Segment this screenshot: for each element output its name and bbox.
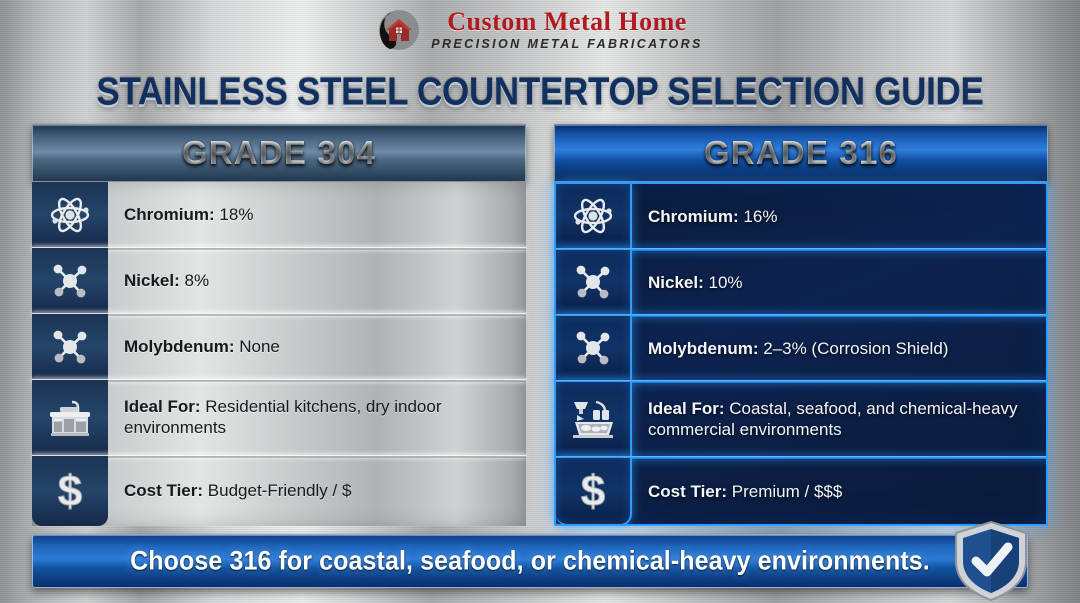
row-text: Nickel: 8% [108, 271, 219, 292]
shield-check-icon [952, 519, 1030, 603]
row-label: Cost Tier: [124, 481, 203, 500]
row-label: Chromium: [124, 205, 215, 224]
grade-304-body: Chromium: 18% Nicke [32, 182, 526, 526]
table-row: Molybdenum: None [32, 314, 526, 380]
recommendation-text: Choose 316 for coastal, seafood, or chem… [130, 545, 930, 576]
grade-316-body: Chromium: 16% Nicke [554, 182, 1048, 526]
table-row: Ideal For: Residential kitchens, dry ind… [32, 380, 526, 456]
table-row: Chromium: 18% [32, 182, 526, 248]
table-row: Nickel: 10% [556, 250, 1046, 316]
brand-logo: Custom Metal Home PRECISION METAL FABRIC… [0, 8, 1080, 52]
row-label: Molybdenum: [648, 339, 759, 358]
table-row: Ideal For: Coastal, seafood, and chemica… [556, 382, 1046, 458]
row-value: 18% [219, 205, 253, 224]
row-text: Cost Tier: Premium / $$$ [632, 482, 852, 503]
row-label: Molybdenum: [124, 337, 235, 356]
row-label: Nickel: [648, 273, 704, 292]
molecule-icon [556, 250, 632, 316]
row-text: Molybdenum: None [108, 337, 290, 358]
dollar-icon: $ [32, 456, 108, 526]
molecule-icon [32, 248, 108, 314]
svg-text:$: $ [581, 467, 605, 515]
page-title: STAINLESS STEEL COUNTERTOP SELECTION GUI… [0, 70, 1080, 115]
row-label: Chromium: [648, 207, 739, 226]
row-label: Nickel: [124, 271, 180, 290]
seafood-prep-icon [556, 382, 632, 458]
row-value: 2–3% (Corrosion Shield) [763, 339, 948, 358]
table-row: $ Cost Tier: Budget-Friendly / $ [32, 456, 526, 526]
grade-304-header: GRADE 304 [32, 124, 526, 182]
row-label: Ideal For: [648, 399, 725, 418]
dollar-icon: $ [556, 458, 632, 526]
kitchen-sink-icon [32, 380, 108, 456]
grade-304-title: GRADE 304 [182, 134, 376, 172]
table-row: Molybdenum: 2–3% (Corrosion Shield) [556, 316, 1046, 382]
row-value: 8% [184, 271, 209, 290]
row-label: Cost Tier: [648, 482, 727, 501]
row-value: 16% [743, 207, 777, 226]
table-row: Chromium: 16% [556, 184, 1046, 250]
table-row: $ Cost Tier: Premium / $$$ [556, 458, 1046, 526]
row-text: Chromium: 18% [108, 205, 263, 226]
row-text: Chromium: 16% [632, 207, 787, 228]
grade-316-header: GRADE 316 [554, 124, 1048, 182]
row-value: Premium / $$$ [732, 482, 843, 501]
svg-text:$: $ [58, 467, 82, 515]
grade-316-panel: GRADE 316 Chromium: 16% [554, 124, 1048, 524]
row-value: Budget-Friendly / $ [208, 481, 352, 500]
grade-304-panel: GRADE 304 Chromium: 18% [32, 124, 526, 524]
molecule-icon [556, 316, 632, 382]
row-value: None [239, 337, 280, 356]
atom-icon [32, 182, 108, 248]
row-text: Nickel: 10% [632, 273, 753, 294]
molecule-icon [32, 314, 108, 380]
brand-tagline: PRECISION METAL FABRICATORS [431, 38, 703, 51]
grade-316-title: GRADE 316 [704, 134, 898, 172]
house-circle-logo-icon [377, 8, 421, 52]
row-text: Ideal For: Coastal, seafood, and chemica… [632, 399, 1046, 440]
row-value: 10% [708, 273, 742, 292]
brand-name: Custom Metal Home [447, 9, 687, 35]
table-row: Nickel: 8% [32, 248, 526, 314]
recommendation-banner: Choose 316 for coastal, seafood, or chem… [32, 534, 1028, 588]
row-label: Ideal For: [124, 397, 201, 416]
atom-icon [556, 184, 632, 250]
row-text: Cost Tier: Budget-Friendly / $ [108, 481, 361, 502]
row-text: Molybdenum: 2–3% (Corrosion Shield) [632, 339, 958, 360]
row-text: Ideal For: Residential kitchens, dry ind… [108, 397, 526, 438]
